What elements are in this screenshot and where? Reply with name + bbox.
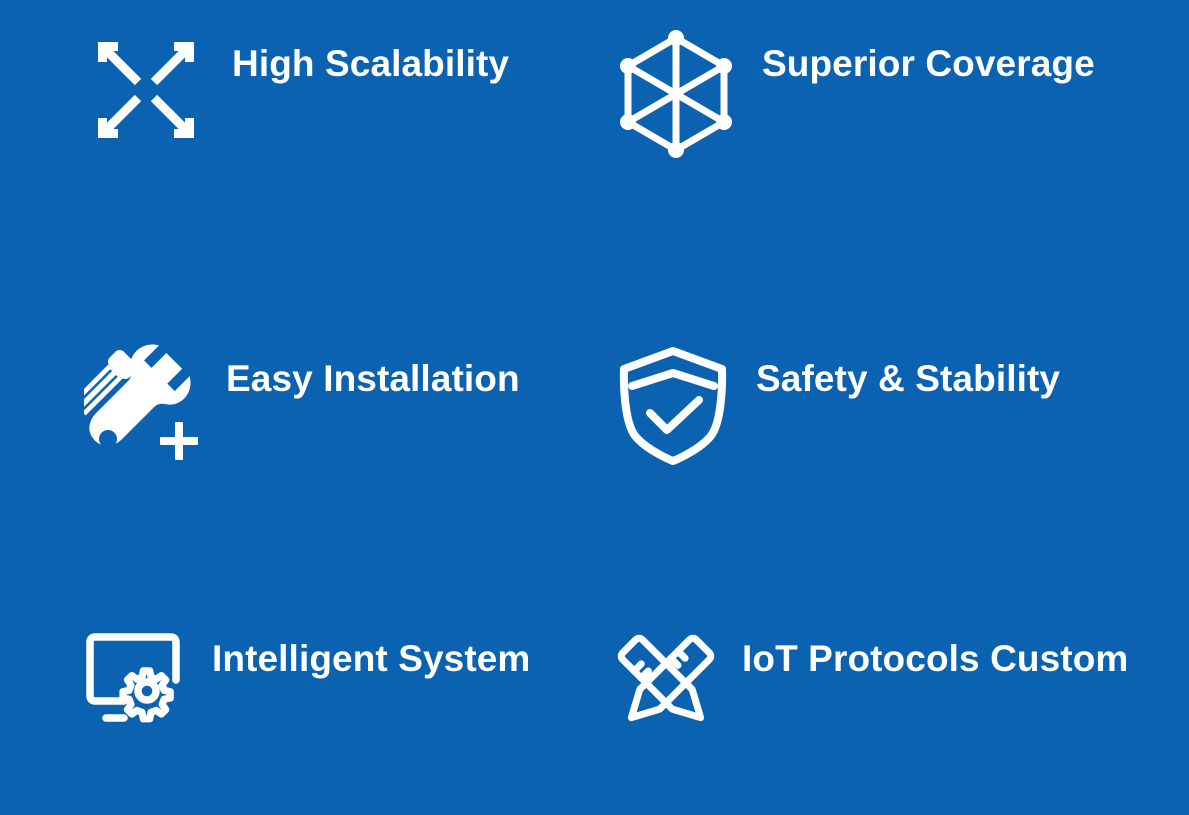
feature-label: Safety & Stability [756,343,1060,397]
feature-label: IoT Protocols Custom [742,628,1128,677]
shield-check-icon [614,343,732,461]
feature-label: Intelligent System [212,628,530,677]
wrench-screwdriver-plus-icon [84,343,202,461]
feature-item-high-scalability[interactable]: High Scalability [84,28,614,343]
feature-item-easy-installation[interactable]: Easy Installation [84,343,614,628]
monitor-gear-icon [84,628,188,732]
feature-item-superior-coverage[interactable]: Superior Coverage [614,28,1144,343]
feature-label: Superior Coverage [762,28,1095,82]
crossed-pencils-icon [614,628,718,732]
feature-label: Easy Installation [226,343,520,397]
expand-arrows-icon [84,28,208,152]
feature-item-iot-protocols-custom[interactable]: IoT Protocols Custom [614,628,1144,815]
feature-item-safety-stability[interactable]: Safety & Stability [614,343,1144,628]
feature-grid: High Scalability [0,0,1189,815]
feature-label: High Scalability [232,28,509,82]
hexagon-network-icon [614,28,738,152]
feature-item-intelligent-system[interactable]: Intelligent System [84,628,614,815]
